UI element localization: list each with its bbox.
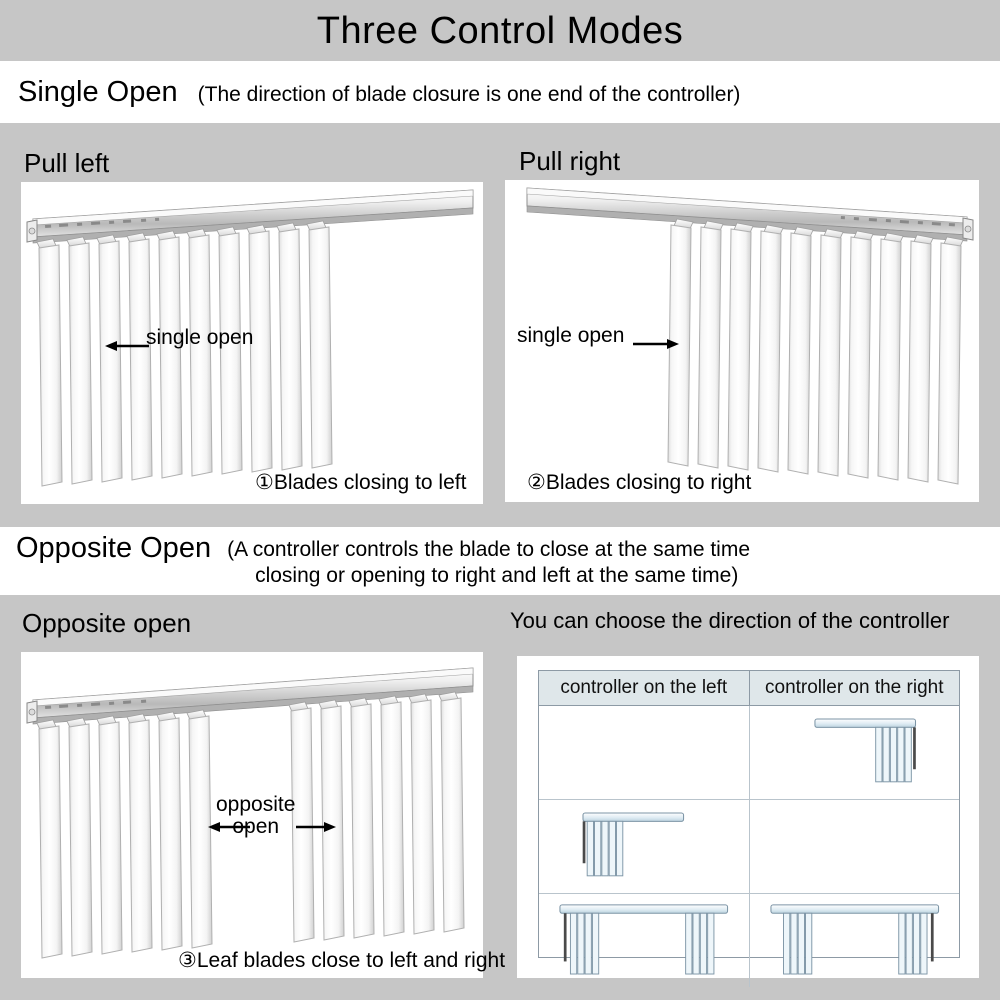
table-cell-empty [539,706,750,799]
panel-label-opposite-open: Opposite open [22,610,191,636]
title-band: Three Control Modes [0,0,1000,61]
page-title: Three Control Modes [317,12,683,50]
controller-direction-table: controller on the left controller on the… [538,670,960,958]
panel-label-pull-left: Pull left [24,150,109,176]
table-row [539,800,959,894]
table-body [539,706,959,958]
mini-blind-split-right [750,894,960,987]
figure-pull-left: single open [21,182,483,504]
figure-pull-right: single open [505,180,979,502]
panel-label-choose-direction: You can choose the direction of the cont… [510,610,949,632]
table-header-controller-right: controller on the right [750,671,960,705]
caption-leaf-blades-close: ③Leaf blades close to left and right [178,950,505,971]
caption-blades-closing-left: ①Blades closing to left [255,472,466,493]
arrow-label-single-open-left: single open [146,327,253,349]
table-cell-empty [750,800,960,893]
table-cell-single-open-left [539,800,750,893]
table-cell-opposite-open-right [750,894,960,987]
section-2-name: Opposite Open [16,534,211,563]
section-2-note-line-2: closing or opening to right and left at … [227,563,750,589]
panel-label-pull-right: Pull right [519,148,620,174]
section-1-heading: Single Open (The direction of blade clos… [18,78,740,108]
arrow-both-directions-icon [206,818,338,836]
section-1-name: Single Open [18,78,178,107]
mini-blind-stack-left [539,800,749,893]
table-header-row: controller on the left controller on the… [539,671,959,706]
arrow-label-single-open-right: single open [517,325,624,347]
table-row [539,894,959,987]
arrow-left-icon [103,337,151,355]
arrow-label-opposite: opposite [216,793,295,816]
arrow-right-icon [631,335,681,353]
section-2-note: (A controller controls the blade to clos… [227,537,750,588]
section-2-note-line-1: (A controller controls the blade to clos… [227,537,750,563]
section-2-heading: Opposite Open (A controller controls the… [16,534,750,588]
mini-blind-split-left [539,894,749,987]
caption-blades-closing-right: ②Blades closing to right [527,472,751,493]
table-cell-single-open-right [750,706,960,799]
table-header-controller-left: controller on the left [539,671,750,705]
table-row [539,706,959,800]
mini-blind-stack-right [750,706,960,799]
section-1-note: (The direction of blade closure is one e… [198,82,741,108]
table-cell-opposite-open-left [539,894,750,987]
figure-opposite-open: opposite open [21,652,483,978]
